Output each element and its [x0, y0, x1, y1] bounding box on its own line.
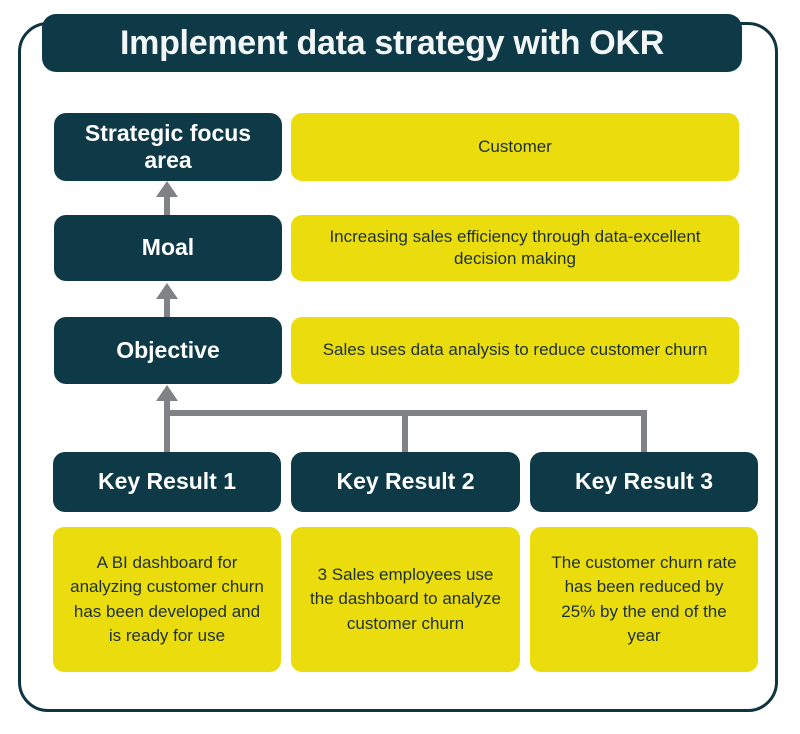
diagram-title-pill: Implement data strategy with OKR — [42, 14, 742, 72]
connector-drop-key-result-1 — [164, 410, 170, 455]
page-title: Implement data strategy with OKR — [120, 26, 664, 60]
key-result-label: Key Result 3 — [575, 468, 713, 495]
row-label-objective[interactable]: Objective — [54, 317, 282, 384]
row-value-text: Customer — [478, 136, 552, 158]
row-value-text: Increasing sales efficiency through data… — [307, 226, 723, 271]
key-result-2-description[interactable]: 3 Sales employees use the dashboard to a… — [291, 527, 520, 672]
key-result-3-description[interactable]: The customer churn rate has been reduced… — [530, 527, 758, 672]
arrow-up-icon-goal-to-focus-area — [156, 181, 178, 197]
row-value-text: Sales uses data analysis to reduce custo… — [323, 339, 708, 361]
key-result-description-text: 3 Sales employees use the dashboard to a… — [307, 563, 504, 635]
okr-diagram-canvas: Implement data strategy with OKR Strateg… — [0, 0, 800, 734]
key-result-description-text: A BI dashboard for analyzing customer ch… — [69, 551, 265, 648]
row-value-objective[interactable]: Sales uses data analysis to reduce custo… — [291, 317, 739, 384]
row-label-goal[interactable]: Moal — [54, 215, 282, 281]
key-result-3-header[interactable]: Key Result 3 — [530, 452, 758, 512]
connector-drop-key-result-3 — [641, 410, 647, 455]
key-result-label: Key Result 1 — [98, 468, 236, 495]
connector-objective-to-goal — [164, 297, 170, 319]
arrow-up-icon-key-results-to-objective — [156, 385, 178, 401]
key-result-label: Key Result 2 — [336, 468, 474, 495]
key-result-1-header[interactable]: Key Result 1 — [53, 452, 281, 512]
key-result-description-text: The customer churn rate has been reduced… — [546, 551, 742, 648]
connector-goal-to-focus-area — [164, 195, 170, 217]
row-label-text: Objective — [116, 337, 220, 364]
key-result-1-description[interactable]: A BI dashboard for analyzing customer ch… — [53, 527, 281, 672]
row-label-text: Moal — [142, 234, 194, 261]
connector-drop-key-result-2 — [402, 410, 408, 455]
row-value-strategic-focus-area[interactable]: Customer — [291, 113, 739, 181]
row-label-text: Strategic focus area — [64, 120, 272, 174]
row-label-strategic-focus-area[interactable]: Strategic focus area — [54, 113, 282, 181]
arrow-up-icon-objective-to-goal — [156, 283, 178, 299]
key-result-2-header[interactable]: Key Result 2 — [291, 452, 520, 512]
row-value-goal[interactable]: Increasing sales efficiency through data… — [291, 215, 739, 281]
